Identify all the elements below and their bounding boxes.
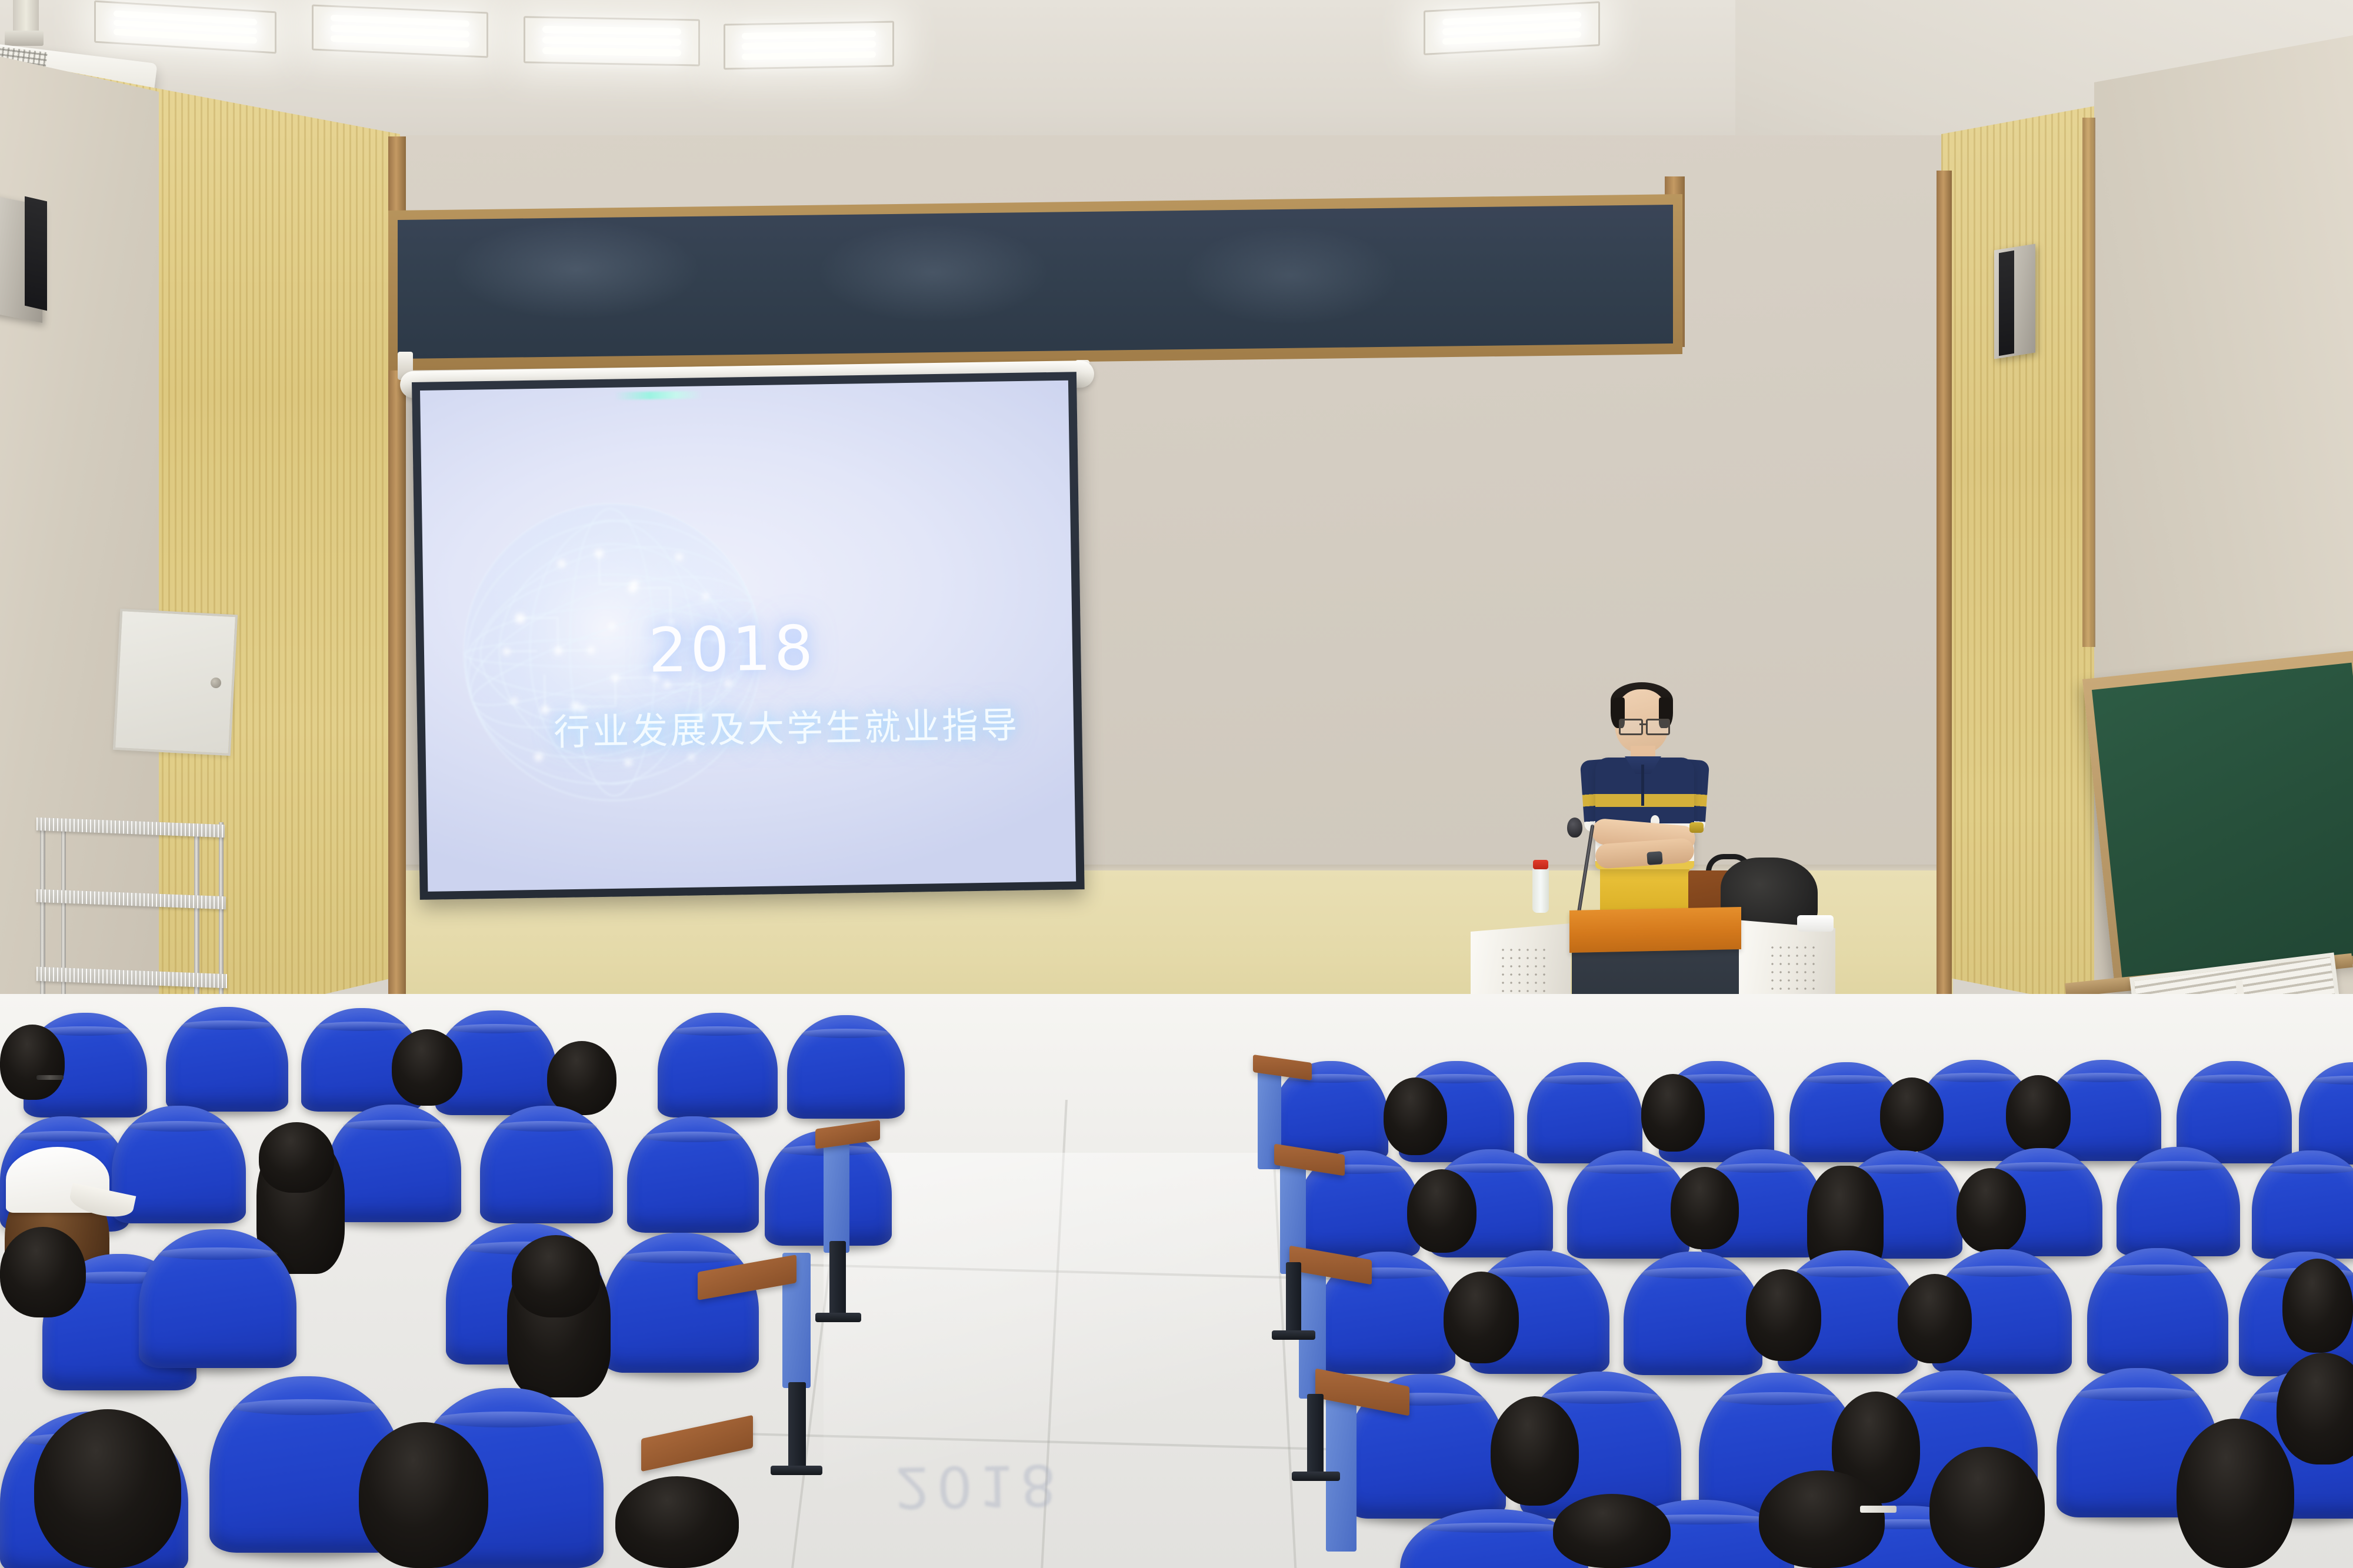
presenter-glasses-icon: [1619, 719, 1643, 735]
seat[interactable]: [1624, 1252, 1762, 1375]
tissue-pack: [1797, 915, 1834, 932]
seat[interactable]: [166, 1007, 288, 1112]
audience-head: [1929, 1447, 2045, 1568]
floor-reflected-slide-text: 2018: [893, 1379, 1225, 1520]
water-bottle-cap: [1533, 860, 1548, 869]
presenter-glasses-icon: [1646, 719, 1670, 735]
seat[interactable]: [787, 1015, 905, 1119]
seat-leg: [788, 1382, 806, 1470]
ceiling-light-panel: [524, 16, 700, 66]
audience-head: [0, 1227, 86, 1317]
seat[interactable]: [480, 1106, 613, 1223]
audience-head: [1671, 1167, 1739, 1249]
audience-head: [2282, 1259, 2353, 1353]
presenter-placket: [1641, 765, 1644, 806]
seat-side-panel: [824, 1135, 849, 1253]
microphone-icon: [1567, 818, 1582, 838]
audience-head: [1898, 1274, 1972, 1363]
podium-top: [1569, 907, 1741, 953]
seat-leg: [1307, 1394, 1324, 1476]
seat-foot: [815, 1313, 861, 1322]
audience-head: [1880, 1077, 1944, 1152]
seat[interactable]: [327, 1105, 461, 1222]
seat[interactable]: [2117, 1147, 2240, 1256]
audience-head: [547, 1041, 616, 1115]
presenter-glasses-bridge: [1639, 723, 1646, 725]
access-panel-latch-icon[interactable]: [211, 678, 221, 688]
wall-wood-trim: [1937, 171, 1952, 1017]
audience-head: [1641, 1074, 1705, 1152]
audience-head: [512, 1235, 600, 1317]
seat-foot: [1292, 1472, 1340, 1481]
seat-foot: [771, 1466, 822, 1475]
audience-glasses-icon: [1860, 1506, 1897, 1513]
audience-head: [615, 1476, 739, 1568]
audience-glasses-icon: [36, 1075, 64, 1080]
ceiling-light-panel: [724, 21, 894, 69]
audience-head: [0, 1025, 65, 1100]
ceiling-light-panel: [1424, 1, 1600, 55]
seat[interactable]: [2252, 1150, 2353, 1259]
wall-wood-trim: [2082, 118, 2095, 647]
audience-head: [1491, 1396, 1579, 1506]
audience-head: [392, 1029, 462, 1106]
seat[interactable]: [658, 1013, 778, 1117]
speaker-grille-right: [1999, 251, 2014, 356]
lecture-hall-photo: 2018 行业发展及大学生就业指导: [0, 0, 2353, 1568]
speaker-grille-left: [25, 196, 47, 311]
slide-year-text: 2018: [648, 617, 816, 680]
audience-head: [34, 1409, 181, 1568]
seat-leg: [1286, 1262, 1301, 1335]
audience-head: [259, 1122, 334, 1193]
audience-head: [1759, 1470, 1885, 1568]
seat[interactable]: [602, 1233, 759, 1373]
audience-head: [1407, 1169, 1477, 1253]
water-bottle: [1532, 867, 1549, 913]
ceiling-light-panel: [312, 4, 488, 58]
seat[interactable]: [1527, 1062, 1642, 1163]
audience-head: [2006, 1075, 2071, 1152]
audience-head: [1553, 1494, 1671, 1568]
seat-foot: [1272, 1330, 1315, 1340]
presenter-wristwatch: [1647, 851, 1662, 865]
projector-arm: [5, 31, 44, 46]
audience-head: [1746, 1269, 1821, 1361]
seat[interactable]: [139, 1229, 296, 1368]
led-display-panel: [398, 205, 1673, 359]
slide-title-text: 行业发展及大学生就业指导: [553, 695, 1019, 755]
presenter-held-object: [1689, 822, 1704, 833]
seat-leg: [829, 1241, 846, 1317]
audience-head: [359, 1422, 488, 1568]
seat[interactable]: [2087, 1248, 2228, 1374]
audience-head: [2177, 1419, 2294, 1568]
projection-screen: 2018 行业发展及大学生就业指导: [420, 381, 1076, 892]
audience-head: [1384, 1077, 1447, 1155]
audience-head: [1444, 1272, 1519, 1363]
audience-head: [1957, 1168, 2026, 1253]
chalkboard: [2092, 663, 2353, 980]
seat[interactable]: [627, 1116, 759, 1233]
slide-top-accent: [614, 391, 702, 399]
seat[interactable]: [2299, 1062, 2353, 1165]
